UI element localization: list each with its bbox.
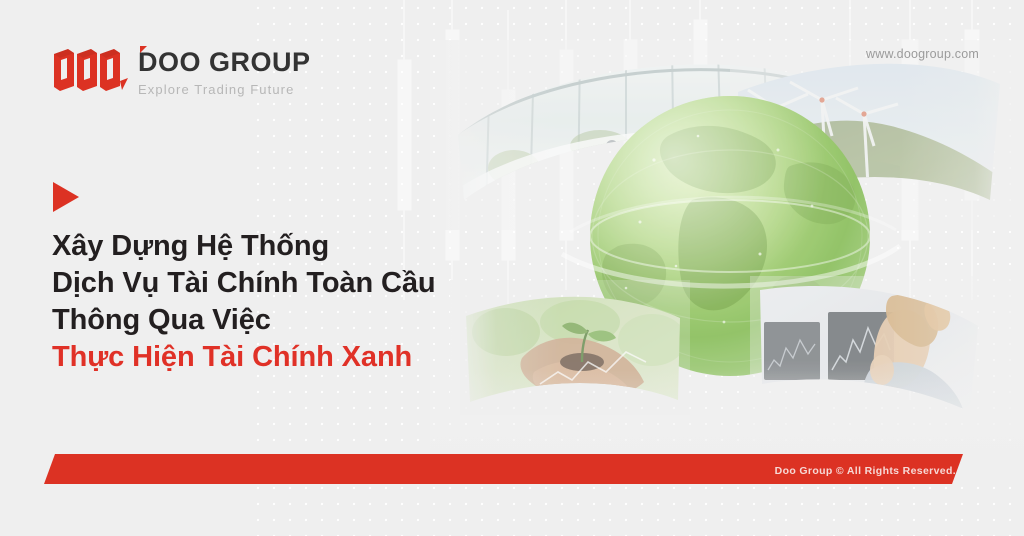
brand-tagline: Explore Trading Future xyxy=(138,83,311,96)
brand-logo[interactable]: DOO GROUP Explore Trading Future xyxy=(52,48,311,96)
image-collage xyxy=(430,40,1024,460)
headline-line-3: Thông Qua Việc xyxy=(52,302,512,339)
headline-block: Xây Dựng Hệ Thống Dịch Vụ Tài Chính Toàn… xyxy=(52,228,512,376)
doo-triple-d-mark-icon xyxy=(52,48,128,92)
marketing-banner: DOO GROUP Explore Trading Future www.doo… xyxy=(0,0,1024,536)
headline-line-1: Xây Dựng Hệ Thống xyxy=(52,228,512,265)
play-triangle-icon xyxy=(53,182,79,212)
headline-line-2: Dịch Vụ Tài Chính Toàn Cầu xyxy=(52,265,512,302)
copyright-text: Doo Group © All Rights Reserved. xyxy=(775,465,956,477)
headline-accent-line: Thực Hiện Tài Chính Xanh xyxy=(52,339,512,376)
logo-accent-mark-icon xyxy=(140,46,147,53)
website-url[interactable]: www.doogroup.com xyxy=(866,47,979,61)
brand-name: DOO GROUP xyxy=(138,49,311,76)
